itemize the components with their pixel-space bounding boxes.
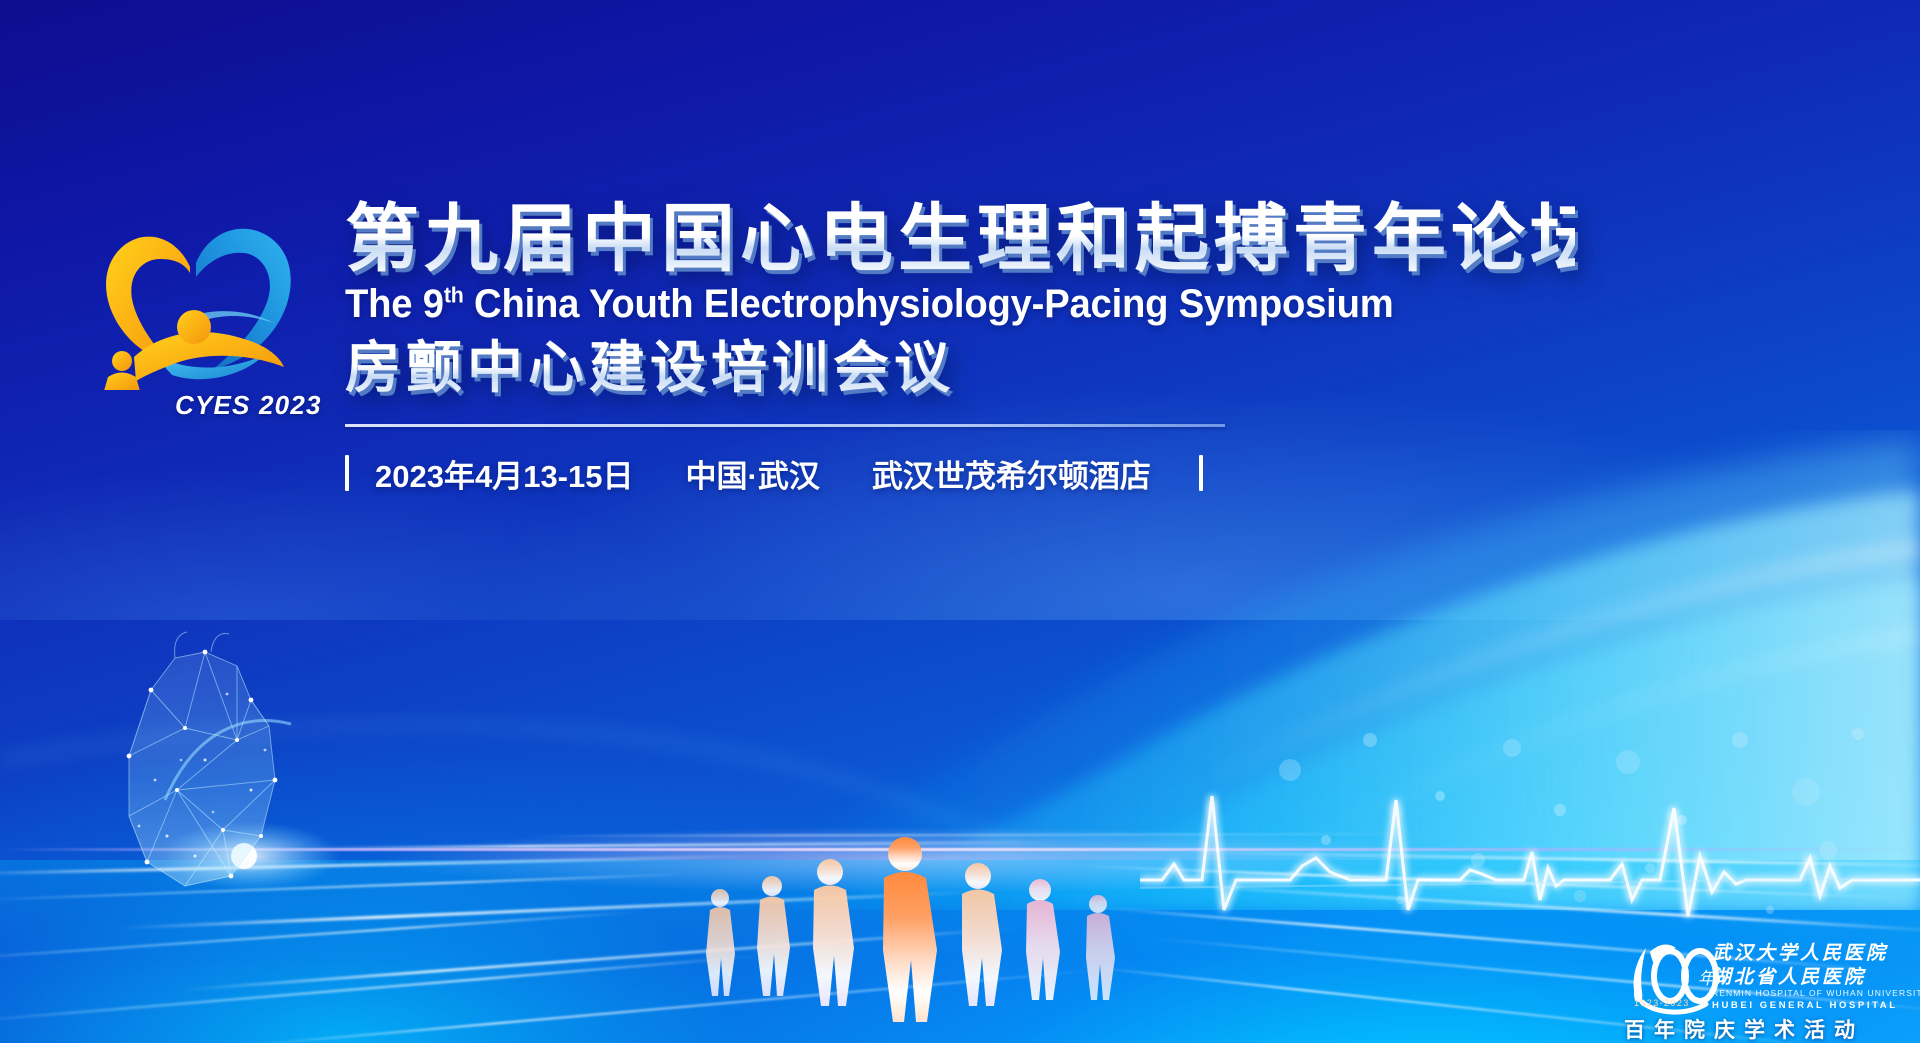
event-city: 中国·武汉 <box>686 451 820 496</box>
title-en-ordinal: th <box>444 283 464 308</box>
hospital-name-cn-2: 湖北省人民医院 <box>1712 962 1866 989</box>
hospital-slogan: 百年院庆学术活动 <box>1624 1014 1864 1043</box>
hospital-name-cn-1: 武汉大学人民医院 <box>1712 938 1888 965</box>
page-title-cn: 第九届中国心电生理和起搏青年论坛 <box>345 200 1575 278</box>
logo-caption: CYES 2023 <box>175 390 322 421</box>
subtitle-cn: 房颤中心建设培训会议 <box>345 335 1575 401</box>
hospital-name-en-1: RENMIN HOSPITAL OF WUHAN UNIVERSITY <box>1712 988 1920 998</box>
divider <box>345 424 1225 427</box>
meta-bar-right-icon <box>1199 455 1203 491</box>
cyes-heart-logo <box>78 205 308 390</box>
event-date: 2023年4月13-15日 <box>375 451 634 496</box>
hospital-name-en-2: HUBEI GENERAL HOSPITAL <box>1712 1000 1898 1011</box>
hospital-emblem: 年 1923-2023 武汉大学人民医院 湖北省人民医院 RENMIN HOSP… <box>1612 938 1912 1038</box>
page-title-en: The 9th China Youth Electrophysiology-Pa… <box>345 282 1520 327</box>
title-en-pre: The 9 <box>345 282 444 326</box>
cyes-logo-graphic <box>78 205 308 390</box>
meta-bar-left-icon <box>345 455 349 491</box>
title-en-post: China Youth Electrophysiology-Pacing Sym… <box>464 282 1394 326</box>
conference-banner: CYES 2023 第九届中国心电生理和起搏青年论坛 The 9th China… <box>0 0 1920 1043</box>
anniversary-years: 1923-2023 <box>1634 998 1690 1008</box>
event-venue: 武汉世茂希尔顿酒店 <box>872 451 1151 496</box>
title-block: 第九届中国心电生理和起搏青年论坛 The 9th China Youth Ele… <box>345 200 1575 496</box>
event-meta-row: 2023年4月13-15日 中国·武汉 武汉世茂希尔顿酒店 <box>345 451 1575 496</box>
